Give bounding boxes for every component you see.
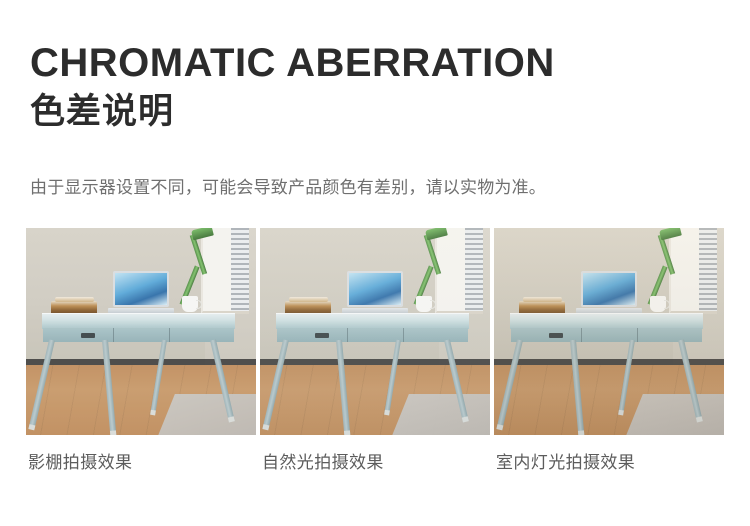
- window-frame: [201, 228, 249, 314]
- drawer-seam-right: [637, 328, 638, 341]
- photo-caption-row: 影棚拍摄效果 自然光拍摄效果 室内灯光拍摄效果: [26, 450, 724, 480]
- page-title-chinese: 色差说明: [30, 90, 730, 134]
- laptop-screen: [113, 271, 168, 307]
- caption-studio: 影棚拍摄效果: [26, 450, 256, 480]
- window-frame: [669, 228, 717, 314]
- window-blinds: [465, 228, 483, 311]
- window-blinds: [699, 228, 717, 311]
- product-photo-studio: [26, 228, 256, 435]
- product-photo-gallery: [26, 228, 724, 435]
- disclaimer-text: 由于显示器设置不同，可能会导致产品颜色有差别，请以实物为准。: [30, 176, 546, 200]
- desk-tabletop: [510, 313, 703, 330]
- desk-tabletop: [42, 313, 235, 330]
- chromatic-aberration-page: CHROMATIC ABERRATION 色差说明 由于显示器设置不同，可能会导…: [0, 0, 750, 526]
- coffee-mug: [182, 296, 198, 312]
- desk-tabletop: [276, 313, 469, 330]
- drawer-pull-handle: [315, 333, 329, 338]
- drawer-pull-handle: [549, 333, 563, 338]
- desk-drawer-apron: [511, 328, 702, 341]
- desk-drawer-apron: [43, 328, 234, 341]
- laptop: [581, 271, 636, 314]
- drawer-seam-right: [403, 328, 404, 341]
- drawer-seam-left: [581, 328, 582, 341]
- drawer-seam-left: [113, 328, 114, 341]
- coffee-mug: [650, 296, 666, 312]
- caption-indoor-light: 室内灯光拍摄效果: [494, 450, 724, 480]
- product-photo-indoor-light: [494, 228, 724, 435]
- window-blinds: [231, 228, 249, 311]
- drawer-seam-right: [169, 328, 170, 341]
- laptop: [113, 271, 168, 314]
- laptop-screen: [581, 271, 636, 307]
- product-photo-natural-light: [260, 228, 490, 435]
- window-frame: [435, 228, 483, 314]
- desk-drawer-apron: [277, 328, 468, 341]
- drawer-seam-left: [347, 328, 348, 341]
- laptop-screen: [347, 271, 402, 307]
- coffee-mug: [416, 296, 432, 312]
- header-block: CHROMATIC ABERRATION 色差说明: [30, 40, 730, 134]
- page-title-english: CHROMATIC ABERRATION: [30, 40, 730, 86]
- laptop: [347, 271, 402, 314]
- caption-natural-light: 自然光拍摄效果: [260, 450, 490, 480]
- drawer-pull-handle: [81, 333, 95, 338]
